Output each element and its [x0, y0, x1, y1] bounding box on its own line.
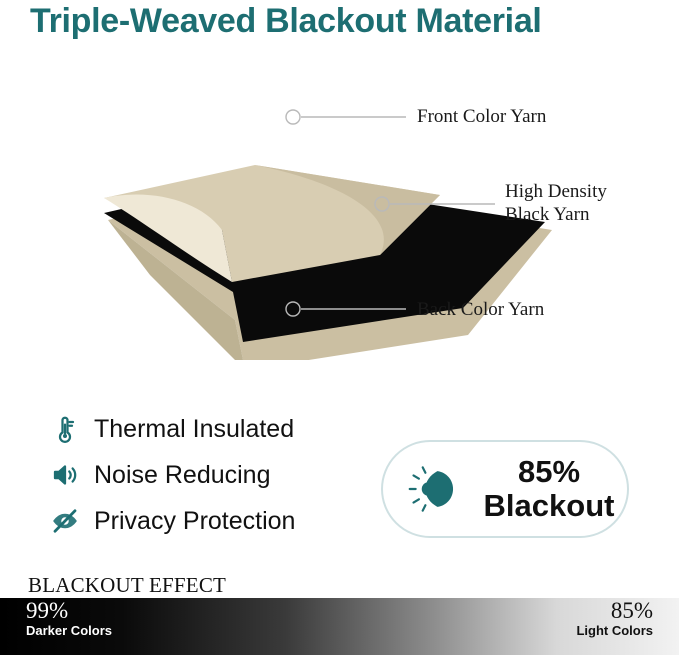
feature-label: Thermal Insulated — [94, 415, 294, 444]
feature-item-privacy-protection: Privacy Protection — [48, 500, 358, 542]
blackout-effect-gradient-bar: 99% Darker Colors 85% Light Colors — [0, 598, 679, 655]
callout-label-high-density-black-yarn: High Density Black Yarn — [505, 180, 607, 226]
eye-off-icon — [48, 504, 82, 538]
blackout-effect-title: BLACKOUT EFFECT — [28, 573, 226, 598]
feature-label: Noise Reducing — [94, 461, 271, 490]
blackout-badge-text: 85% Blackout — [471, 455, 627, 523]
feature-list: Thermal Insulated Noise Reducing Privacy… — [48, 408, 358, 546]
callout-dot-front — [286, 110, 300, 124]
blackout-word: Blackout — [471, 489, 627, 523]
blackout-badge: 85% Blackout — [381, 440, 629, 538]
feature-label: Privacy Protection — [94, 507, 295, 536]
page-title: Triple-Weaved Blackout Material — [30, 2, 670, 41]
gradient-right-sublabel: Light Colors — [576, 623, 653, 639]
feature-item-noise-reducing: Noise Reducing — [48, 454, 358, 496]
callout-label-back-color-yarn: Back Color Yarn — [417, 298, 544, 321]
blackout-percent: 85% — [471, 455, 627, 489]
thermometer-icon — [48, 412, 82, 446]
speaker-icon — [48, 458, 82, 492]
gradient-left-sublabel: Darker Colors — [26, 623, 112, 639]
fabric-layers-diagram: Front Color Yarn High Density Black Yarn… — [0, 70, 679, 360]
gradient-left-callout: 99% Darker Colors — [26, 598, 112, 639]
gradient-left-percent: 99% — [26, 598, 112, 623]
sun-block-icon — [405, 461, 461, 517]
gradient-right-percent: 85% — [576, 598, 653, 623]
feature-item-thermal-insulated: Thermal Insulated — [48, 408, 358, 450]
callout-label-front-color-yarn: Front Color Yarn — [417, 105, 546, 128]
gradient-right-callout: 85% Light Colors — [576, 598, 653, 639]
